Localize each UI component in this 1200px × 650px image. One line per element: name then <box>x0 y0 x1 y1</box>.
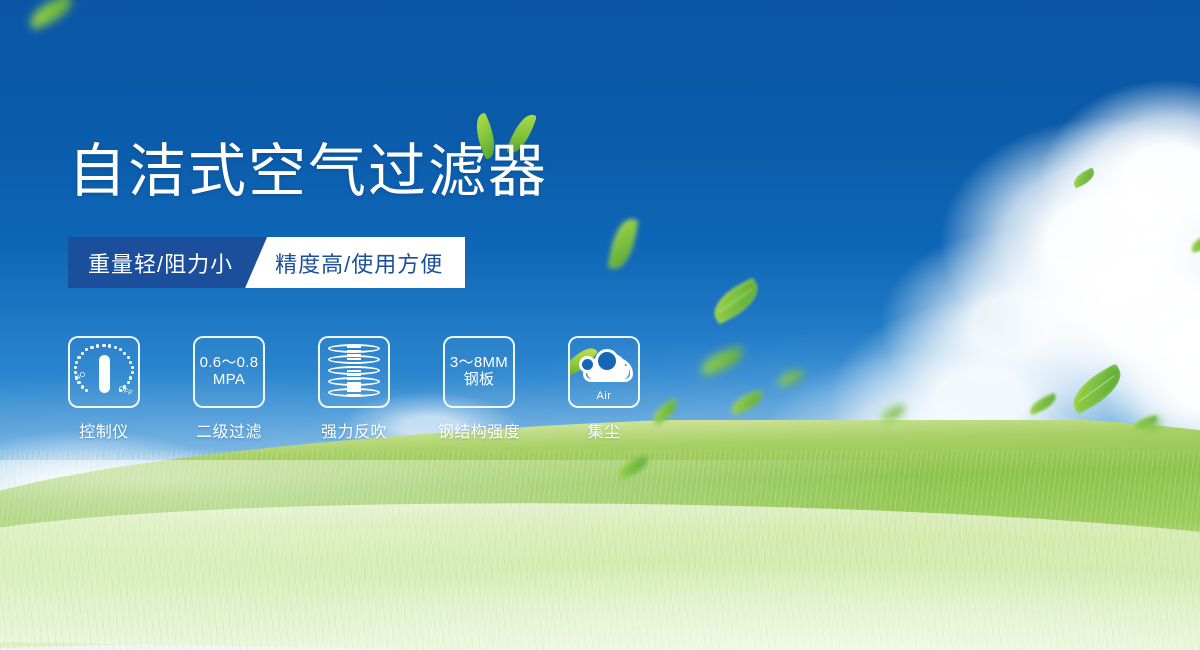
subtitle-right-segment: 精度高/使用方便 <box>245 237 465 288</box>
feature-label: 强力反吹 <box>321 418 387 442</box>
grass-field <box>0 420 1200 650</box>
feature-list: NO OFF 控制仪 0.6～0.8 MPA 二级过滤 <box>68 336 640 442</box>
feature-label: 钢结构强度 <box>438 418 521 442</box>
subtitle-bar: 重量轻/阻力小 精度高/使用方便 <box>68 237 465 288</box>
control-dial-icon: NO OFF <box>74 342 134 402</box>
feature-label: 二级过滤 <box>196 418 262 442</box>
feature-item-control-instrument[interactable]: NO OFF 控制仪 <box>68 336 140 442</box>
air-cloud-icon: Air <box>573 346 635 398</box>
hero-banner: 自洁式空气过滤器 重量轻/阻力小 精度高/使用方便 <box>0 0 1200 650</box>
feature-item-steel-strength[interactable]: 3～8MM 钢板 钢结构强度 <box>443 336 515 442</box>
feature-icon-box: 3～8MM 钢板 <box>443 336 515 408</box>
steel-plate-text-icon: 3～8MM 钢板 <box>450 355 508 389</box>
feature-icon-box: NO OFF <box>68 336 140 408</box>
feature-label: 控制仪 <box>79 418 129 442</box>
feature-label: 集尘 <box>587 418 620 442</box>
air-label: Air <box>573 390 635 402</box>
dial-off-label: OFF <box>117 385 133 397</box>
pressure-text-icon: 0.6～0.8 MPA <box>200 355 259 389</box>
feature-item-strong-blowback[interactable]: 强力反吹 <box>318 336 390 442</box>
feature-icon-box: 0.6～0.8 MPA <box>193 336 265 408</box>
filter-stack-icon <box>328 344 380 400</box>
dial-needle <box>99 355 110 393</box>
page-title: 自洁式空气过滤器 <box>68 143 548 201</box>
subtitle-left-segment: 重量轻/阻力小 <box>68 237 267 288</box>
feature-item-secondary-filtration[interactable]: 0.6～0.8 MPA 二级过滤 <box>193 336 265 442</box>
feature-icon-box <box>318 336 390 408</box>
feature-icon-box: Air <box>568 336 640 408</box>
feature-item-dust-collection[interactable]: Air 集尘 <box>568 336 640 442</box>
